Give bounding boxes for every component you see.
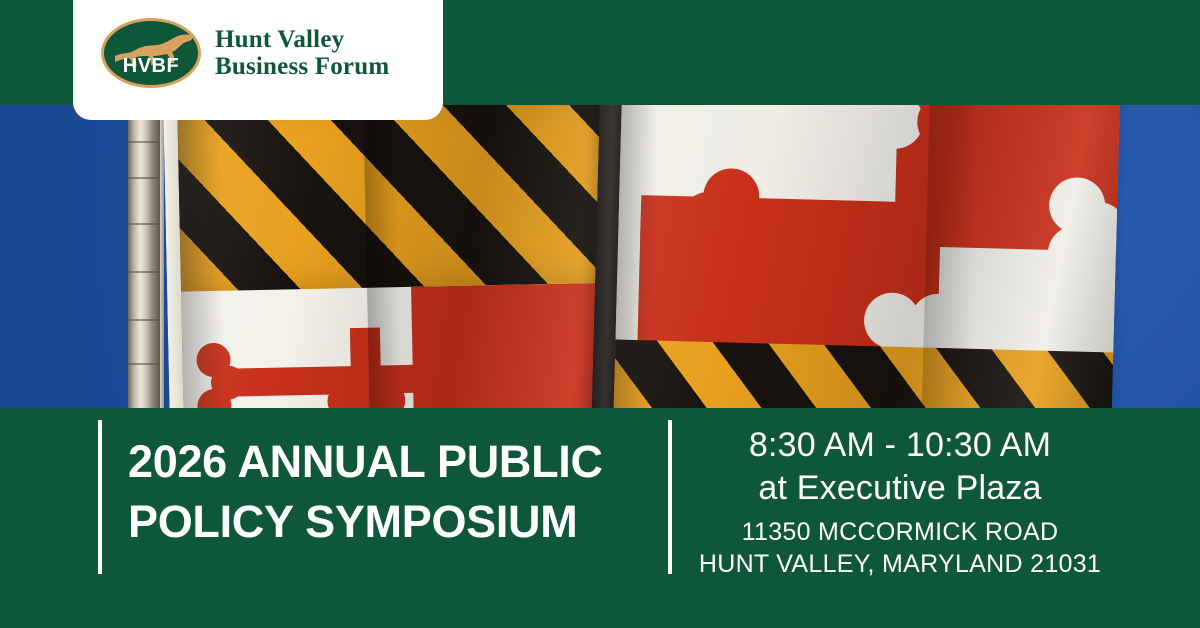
calvert-bendy-right [613,339,1113,408]
crossland-cross-left [181,282,650,408]
event-banner: HVBF Hunt Valley Business Forum Networki… [0,0,1200,628]
event-venue: at Executive Plaza [690,467,1110,510]
event-title-line1: 2026 ANNUAL PUBLIC [128,432,648,492]
maryland-flag-right [591,105,1119,408]
hero-photo-maryland-flags [0,105,1200,408]
flagpole [128,105,160,408]
brand-name-line1: Hunt Valley [215,26,389,53]
brand-name-line2: Business Forum [215,53,389,80]
calvert-bendy-left [177,105,647,297]
crossland-quarters-right [615,105,1119,355]
event-title: 2026 ANNUAL PUBLIC POLICY SYMPOSIUM [128,432,648,552]
event-time: 8:30 AM - 10:30 AM [690,424,1110,467]
divider-middle [668,420,672,574]
brand-logo[interactable]: HVBF Hunt Valley Business Forum [73,0,443,120]
hvbf-logo-oval: HVBF [101,18,201,88]
divider-left [98,420,102,574]
maryland-flag-left [163,105,650,408]
event-details: 8:30 AM - 10:30 AM at Executive Plaza 11… [690,424,1110,581]
event-address-line2: HUNT VALLEY, MARYLAND 21031 [690,548,1110,581]
event-title-line2: POLICY SYMPOSIUM [128,492,648,552]
hvbf-monogram: HVBF [123,55,179,78]
brand-wordmark: Hunt Valley Business Forum [215,26,389,80]
event-address-line1: 11350 MCCORMICK ROAD [690,516,1110,549]
